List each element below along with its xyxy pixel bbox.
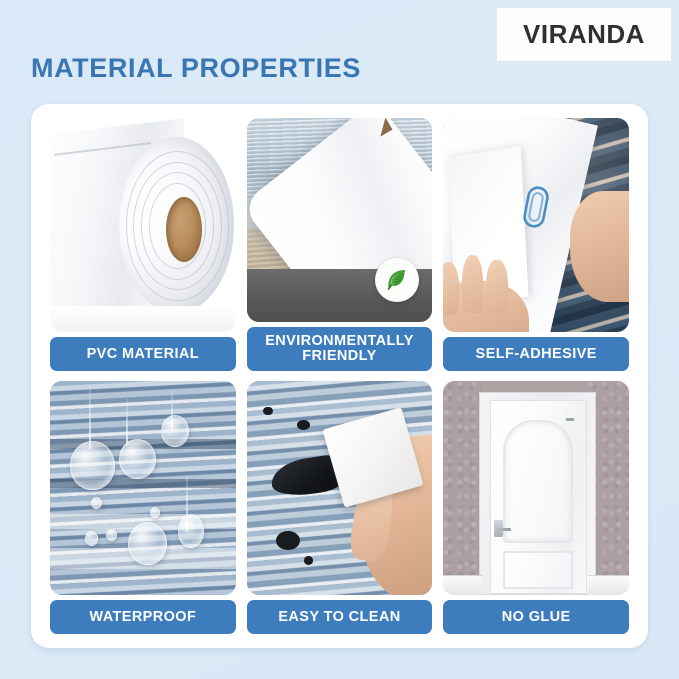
brand-name: VIRANDA — [523, 19, 645, 50]
water-droplet-small — [106, 529, 117, 542]
label-line-2: FRIENDLY — [302, 348, 376, 364]
stain-spot — [297, 420, 310, 431]
self-adhesive-image — [443, 118, 629, 332]
feature-label-environmentally-friendly: ENVIRONMENTALLYFRIENDLY — [247, 327, 433, 371]
door-arched-panel — [503, 420, 573, 543]
water-droplet-small — [150, 507, 159, 518]
features-card: PVC MATERIAL — [31, 104, 648, 648]
finger — [443, 262, 459, 315]
features-grid: PVC MATERIAL — [50, 118, 629, 634]
leaf-icon — [383, 266, 411, 294]
feature-cell-self-adhesive: SELF-ADHESIVE — [443, 118, 629, 371]
droplet-trail — [89, 385, 91, 449]
feature-cell-no-glue: NO GLUE — [443, 381, 629, 634]
feature-cell-easy-to-clean: EASY TO CLEAN — [247, 381, 433, 634]
left-wall — [443, 381, 482, 595]
easy-to-clean-image — [247, 381, 433, 595]
pvc-ground-shadow — [50, 306, 236, 332]
water-droplet-small — [85, 531, 98, 546]
feature-cell-environmentally-friendly: ENVIRONMENTALLYFRIENDLY — [247, 118, 433, 371]
door-latch — [566, 418, 575, 421]
feature-label-pvc-material: PVC MATERIAL — [50, 337, 236, 371]
stain-spot — [263, 407, 272, 416]
label-line-1: ENVIRONMENTALLY — [265, 333, 414, 349]
water-droplet — [119, 439, 156, 480]
pvc-roll-image — [50, 118, 236, 332]
water-droplet-small — [91, 497, 102, 510]
feature-label-easy-to-clean: EASY TO CLEAN — [247, 600, 433, 634]
eco-badge — [375, 258, 419, 302]
feature-label-self-adhesive: SELF-ADHESIVE — [443, 337, 629, 371]
feature-label-no-glue: NO GLUE — [443, 600, 629, 634]
finger — [462, 255, 483, 313]
finger — [486, 260, 507, 315]
right-baseboard — [588, 575, 629, 595]
feature-cell-waterproof: WATERPROOF — [50, 381, 236, 634]
water-droplet — [70, 441, 115, 490]
left-baseboard — [443, 575, 482, 595]
no-glue-image — [443, 381, 629, 595]
door-handle-bar — [496, 528, 511, 531]
pvc-roll-body — [119, 137, 234, 312]
water-droplet — [128, 522, 167, 565]
white-door — [490, 400, 587, 594]
feature-label-waterproof: WATERPROOF — [50, 600, 236, 634]
water-droplet — [178, 514, 204, 548]
peel-corner-tip — [373, 118, 392, 137]
waterproof-image — [50, 381, 236, 595]
brand-logo-box: VIRANDA — [497, 8, 671, 61]
door-lower-panel — [503, 551, 573, 589]
feature-cell-pvc-material: PVC MATERIAL — [50, 118, 236, 371]
door-frame — [479, 392, 596, 595]
pvc-cardboard-core — [166, 197, 202, 262]
infographic-page: VIRANDA MATERIAL PROPERTIES — [0, 0, 679, 679]
droplet-trail — [126, 398, 128, 445]
page-title: MATERIAL PROPERTIES — [31, 53, 361, 84]
eco-wallpaper-image — [247, 118, 433, 322]
